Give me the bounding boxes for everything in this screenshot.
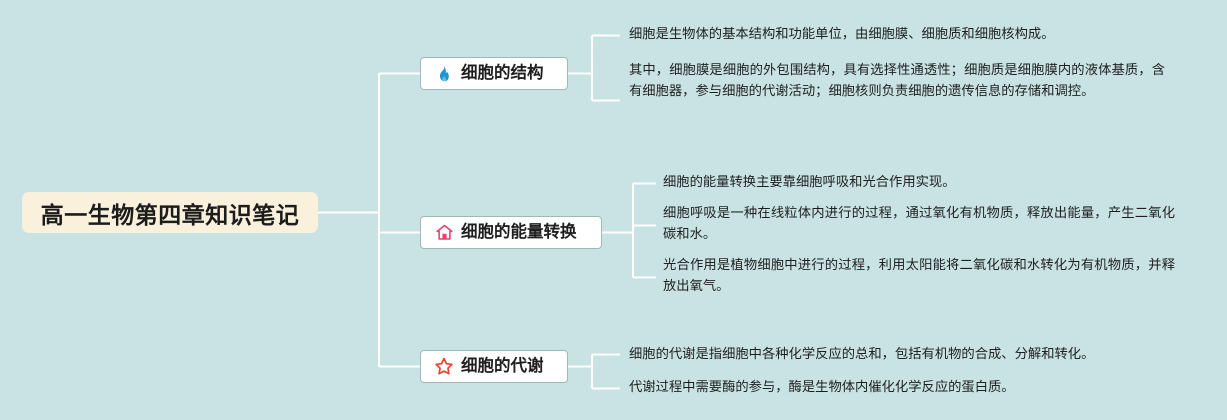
branch-node-metabolism[interactable]: 细胞的代谢 bbox=[420, 350, 568, 383]
leaf-text: 其中，细胞膜是细胞的外包围结构，具有选择性通透性；细胞质是细胞膜内的液体基质，含… bbox=[629, 60, 1165, 101]
branch-node-cell-structure[interactable]: 细胞的结构 bbox=[420, 57, 568, 90]
leaf-text: 细胞是生物体的基本结构和功能单位，由细胞膜、细胞质和细胞核构成。 bbox=[629, 24, 1174, 45]
leaf-text: 细胞的能量转换主要靠细胞呼吸和光合作用实现。 bbox=[663, 172, 1183, 193]
mindmap-canvas: 高一生物第四章知识笔记 细胞的结构 细胞的能量转换 细胞的代谢 bbox=[0, 0, 1227, 420]
root-node-label: 高一生物第四章知识笔记 bbox=[41, 196, 300, 230]
home-icon bbox=[434, 223, 454, 243]
branch-node-label: 细胞的能量转换 bbox=[461, 224, 577, 241]
branch-node-energy-conversion[interactable]: 细胞的能量转换 bbox=[420, 216, 602, 249]
leaf-text: 细胞呼吸是一种在线粒体内进行的过程，通过氧化有机物质，释放出能量，产生二氧化碳和… bbox=[663, 203, 1175, 244]
leaf-text: 光合作用是植物细胞中进行的过程，利用太阳能将二氧化碳和水转化为有机物质，并释放出… bbox=[663, 255, 1175, 296]
flame-icon bbox=[434, 64, 454, 84]
leaf-text: 细胞的代谢是指细胞中各种化学反应的总和，包括有机物的合成、分解和转化。 bbox=[629, 344, 1174, 365]
branch-node-label: 细胞的结构 bbox=[461, 65, 544, 82]
leaf-text: 代谢过程中需要酶的参与，酶是生物体内催化化学反应的蛋白质。 bbox=[629, 377, 1174, 398]
root-node[interactable]: 高一生物第四章知识笔记 bbox=[22, 192, 318, 233]
branch-node-label: 细胞的代谢 bbox=[461, 358, 544, 375]
star-icon bbox=[434, 357, 454, 377]
